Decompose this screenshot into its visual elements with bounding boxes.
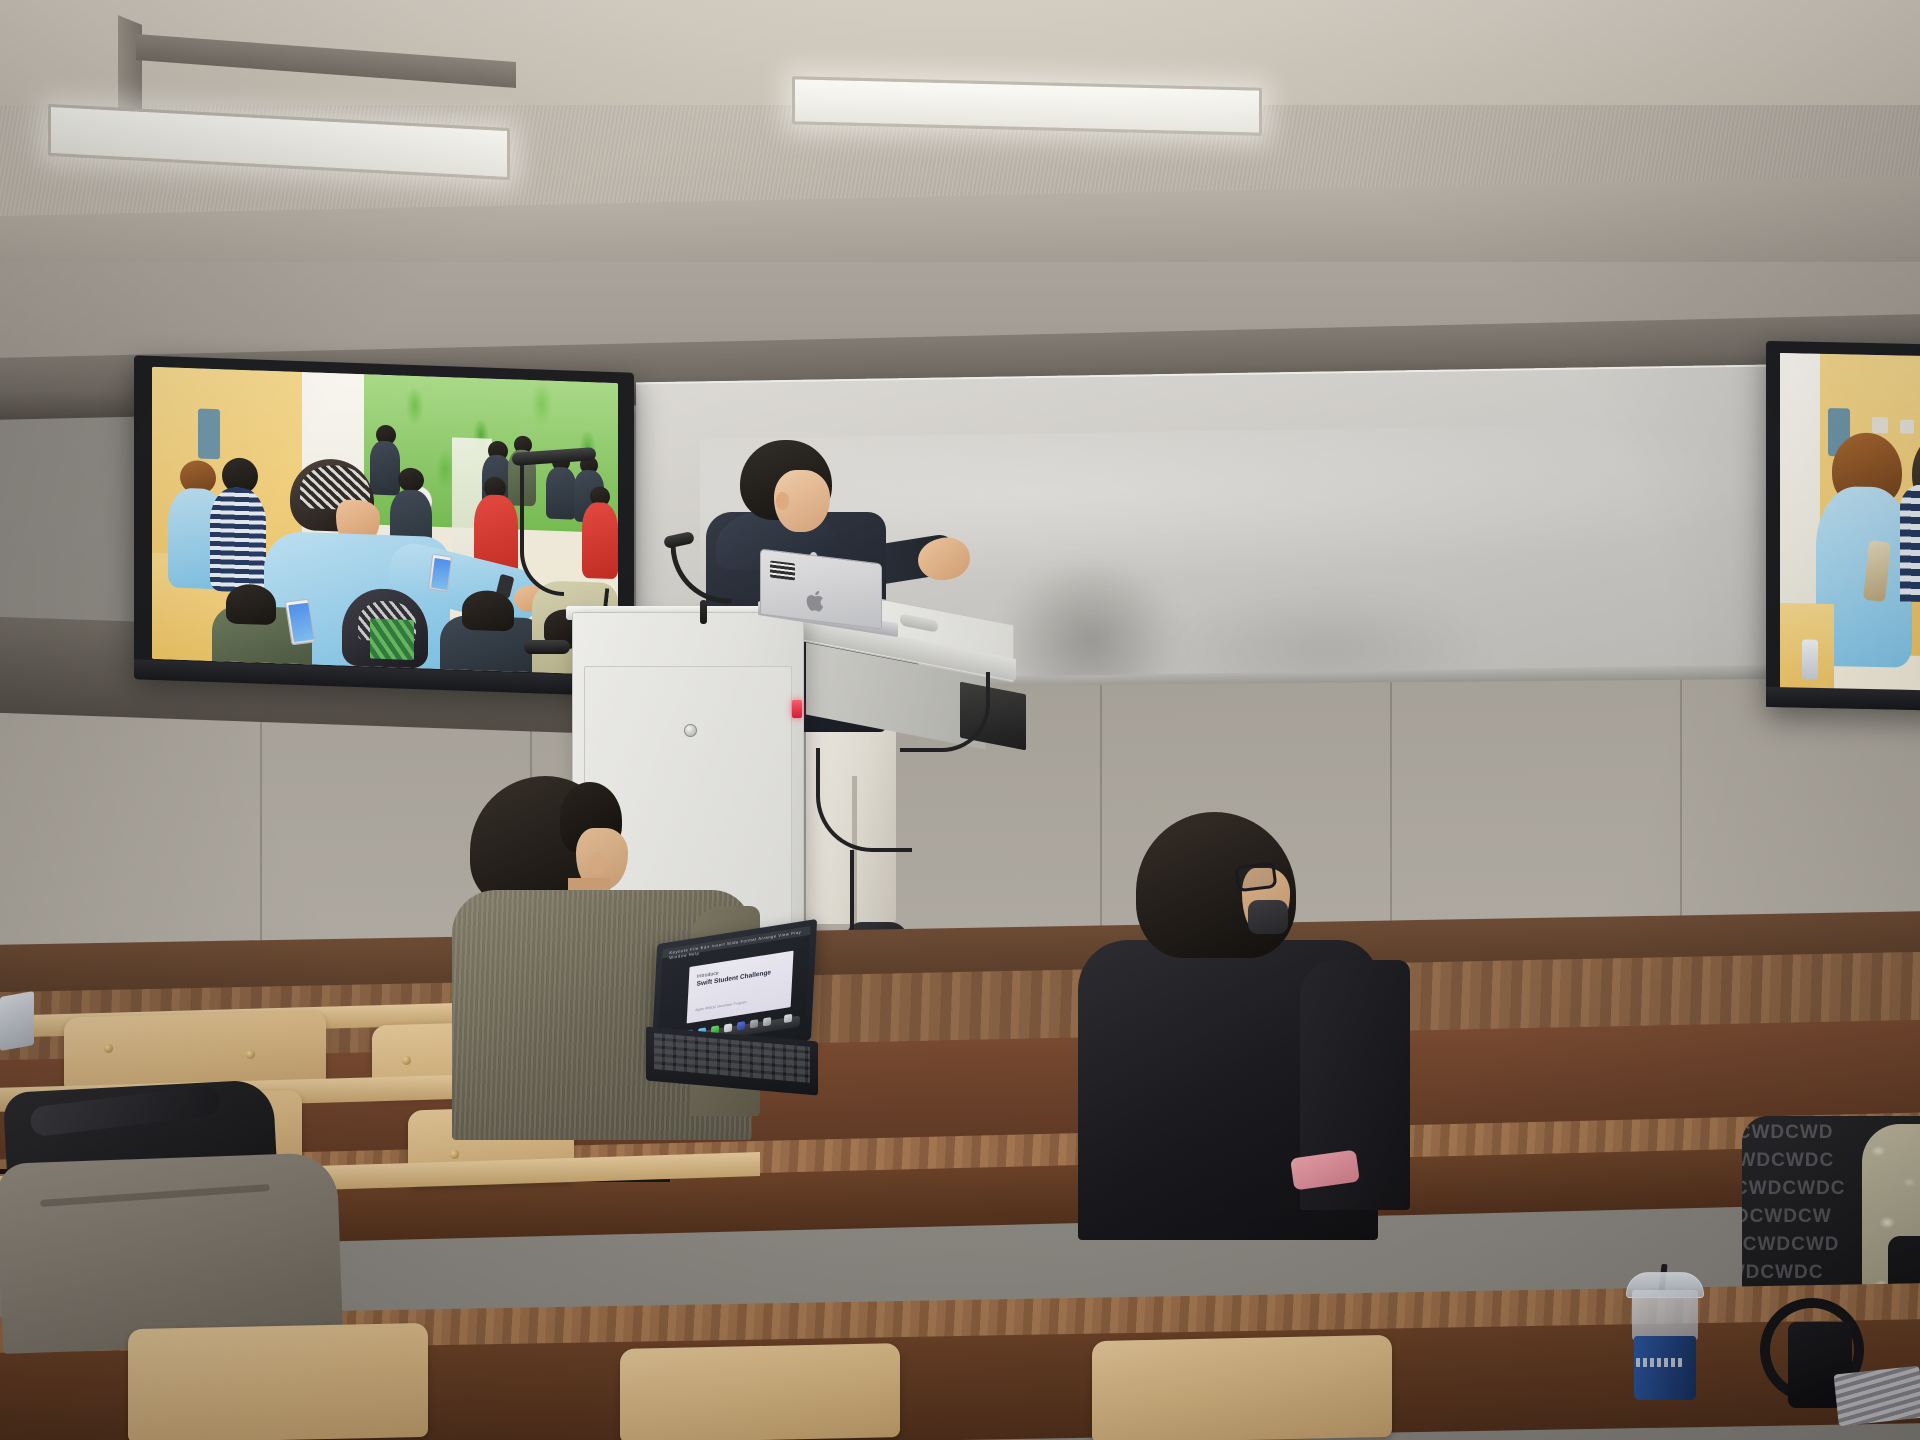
settings-icon[interactable] (750, 1019, 758, 1028)
lecture-seat[interactable] (620, 1343, 900, 1440)
presenter-ear (776, 492, 789, 510)
drink-cup-label (1636, 1358, 1682, 1367)
apple-logo-svg (806, 588, 827, 615)
face-mask (1248, 900, 1288, 934)
slide-footnote: Apple WWDC Developer Program (695, 1000, 746, 1012)
right-wall-display-screen[interactable] (1780, 353, 1920, 697)
lecture-seat[interactable] (1092, 1335, 1392, 1440)
keynote-slide[interactable]: Introduce Swift Student Challenge Apple … (687, 951, 794, 1024)
drink-ice (1632, 1290, 1698, 1340)
downloads-icon[interactable] (784, 1014, 792, 1023)
barcode-sticker-icon (770, 560, 795, 580)
silver-metallic-object (1834, 1366, 1920, 1427)
xcode-icon[interactable] (737, 1021, 745, 1030)
draped-coat (0, 1152, 343, 1354)
keynote-icon[interactable] (724, 1023, 732, 1032)
lecture-seat[interactable] (128, 1323, 428, 1440)
status-led-indicator (792, 700, 802, 718)
partial-laptop-left[interactable] (0, 991, 34, 1051)
microphone-arm-left (520, 456, 564, 596)
attendee-left-ear (588, 852, 605, 875)
lecture-hall-photo: Keynote File Edit Insert Slide Format Ar… (0, 0, 1920, 1440)
trash-icon[interactable] (763, 1017, 771, 1026)
microphone-base-left (524, 640, 570, 654)
apple-logo-icon (806, 588, 827, 615)
eyeglasses-icon (1235, 862, 1278, 893)
lectern-lock-icon[interactable] (684, 724, 697, 737)
microphone-stand (700, 600, 707, 624)
iced-drink-cup[interactable] (1634, 1336, 1696, 1400)
